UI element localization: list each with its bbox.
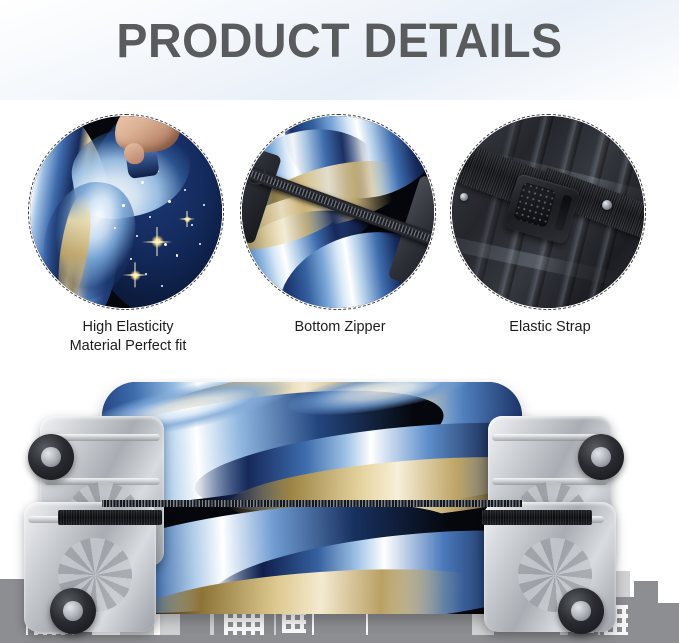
hero-product-photo [0, 378, 679, 643]
elastic-strap [58, 510, 162, 525]
feature-image-circle [22, 112, 234, 312]
feature-high-elasticity: High Elasticity Material Perfect fit [22, 112, 234, 312]
spinner-wheel [578, 434, 624, 480]
feature-elastic-strap: Elastic Strap [444, 112, 656, 312]
spinner-wheel [28, 434, 74, 480]
spinner-wheel [558, 588, 604, 634]
high-elasticity-photo [30, 116, 222, 308]
feature-image-circle [234, 112, 446, 312]
feature-row: High Elasticity Material Perfect fit [0, 112, 679, 362]
header-banner: PRODUCT DETAILS [0, 0, 679, 100]
center-zipper [102, 498, 522, 509]
suitcase [22, 382, 662, 640]
elastic-strap-photo [452, 116, 644, 308]
feature-bottom-zipper: Bottom Zipper [234, 112, 446, 312]
rivet-icon [460, 193, 468, 201]
feature-caption: Elastic Strap [444, 318, 656, 337]
feature-image-circle [444, 112, 656, 312]
product-details-page: PRODUCT DETAILS [0, 0, 679, 643]
feature-caption: Bottom Zipper [234, 318, 446, 337]
page-title: PRODUCT DETAILS [10, 14, 669, 69]
star-sparkle-icon [184, 216, 191, 223]
bottom-zipper-photo [242, 116, 434, 308]
star-sparkle-icon [130, 270, 141, 281]
elastic-strap [482, 510, 592, 525]
luggage-cover [102, 382, 522, 614]
zipper-pull-icon [246, 163, 267, 186]
feature-caption: High Elasticity Material Perfect fit [22, 318, 234, 356]
star-sparkle-icon [151, 235, 164, 248]
spinner-wheel [50, 588, 96, 634]
